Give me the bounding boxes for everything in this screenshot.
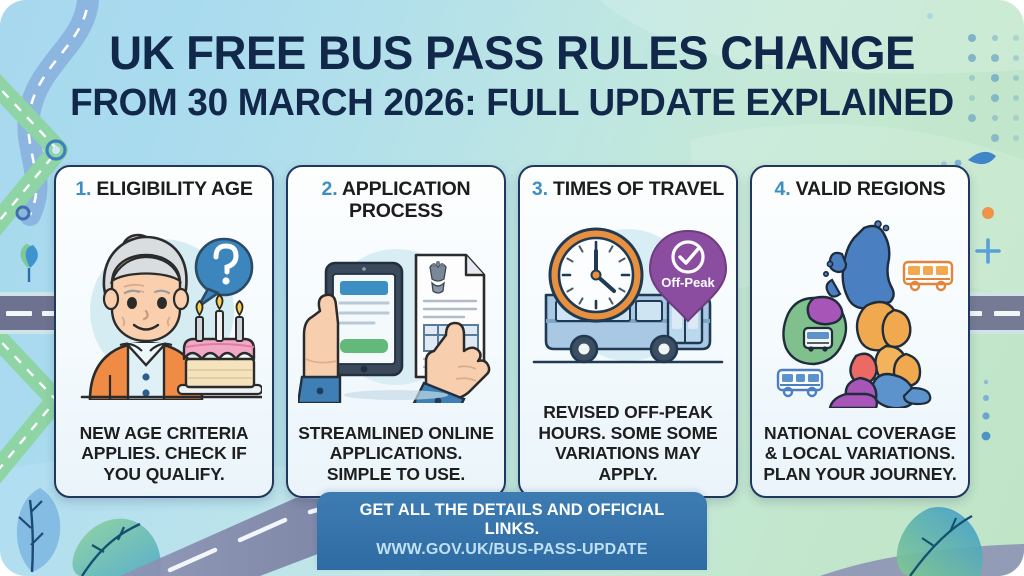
- card-4-body: NATIONAL COVERAGE & LOCAL VARIATIONS. PL…: [760, 423, 960, 486]
- card-4-illustration: [760, 203, 960, 423]
- card-2-title: 2. APPLICATION PROCESS: [296, 179, 496, 223]
- tablet-and-document-icon: [298, 243, 494, 403]
- card-1-illustration: [64, 203, 264, 423]
- card-2-title-text: APPLICATION PROCESS: [342, 178, 471, 222]
- elderly-person-birthday-cake-icon: [66, 225, 262, 400]
- uk-ireland-map-icon: [760, 218, 960, 408]
- card-3-number: 3.: [532, 178, 548, 200]
- offpeak-badge-label: Off-Peak: [661, 275, 715, 290]
- card-4-title: 4. VALID REGIONS: [775, 179, 946, 203]
- title-line-2: FROM 30 MARCH 2026: FULL UPDATE EXPLAINE…: [15, 81, 1008, 126]
- leaf-cluster-bottomright: [897, 507, 983, 576]
- card-3-title-text: TIMES OF TRAVEL: [553, 178, 724, 200]
- footer-cta: GET ALL THE DETAILS AND OFFICIAL LINKS.: [335, 501, 689, 539]
- bus-icon-orange: [904, 262, 952, 290]
- card-2-body: STREAMLINED ONLINE APPLICATIONS. SIMPLE …: [296, 423, 496, 486]
- card-4-title-text: VALID REGIONS: [796, 178, 946, 200]
- card-3-illustration: Off-Peak: [528, 203, 728, 402]
- card-application-process[interactable]: 2. APPLICATION PROCESS: [286, 165, 506, 498]
- card-times-of-travel[interactable]: 3. TIMES OF TRAVEL: [518, 165, 738, 498]
- sprout-icon: [20, 244, 37, 282]
- card-1-title-text: ELIGIBILITY AGE: [96, 178, 252, 200]
- orange-dot: [982, 207, 994, 219]
- card-row: 1. ELIGIBILITY AGE: [54, 165, 970, 498]
- card-3-body: REVISED OFF-PEAK HOURS. SOME SOME VARIAT…: [528, 402, 728, 486]
- card-1-number: 1.: [75, 178, 91, 200]
- card-eligibility-age[interactable]: 1. ELIGIBILITY AGE: [54, 165, 274, 498]
- footer-url[interactable]: WWW.GOV.UK/BUS-PASS-UPDATE: [335, 540, 689, 559]
- clock-icon: [550, 229, 642, 321]
- bus-icon-blue: [778, 370, 822, 396]
- infographic-canvas: UK FREE BUS PASS RULES CHANGE FROM 30 MA…: [0, 0, 1024, 576]
- path-zigzag-left-lower: [0, 330, 56, 480]
- card-1-title: 1. ELIGIBILITY AGE: [75, 179, 252, 203]
- bus-badge-ireland-icon: [804, 328, 832, 352]
- title-line-1: UK FREE BUS PASS RULES CHANGE: [15, 28, 1008, 78]
- card-1-body: NEW AGE CRITERIA APPLIES. CHECK IF YOU Q…: [64, 423, 264, 486]
- card-valid-regions[interactable]: 4. VALID REGIONS: [750, 165, 970, 498]
- card-2-illustration: [296, 223, 496, 423]
- card-4-number: 4.: [775, 178, 791, 200]
- clock-bus-offpeak-icon: Off-Peak: [528, 225, 728, 380]
- footer-banner[interactable]: GET ALL THE DETAILS AND OFFICIAL LINKS. …: [317, 492, 707, 570]
- card-2-number: 2.: [322, 178, 338, 200]
- page-title: UK FREE BUS PASS RULES CHANGE FROM 30 MA…: [0, 28, 1024, 126]
- card-3-title: 3. TIMES OF TRAVEL: [532, 179, 724, 203]
